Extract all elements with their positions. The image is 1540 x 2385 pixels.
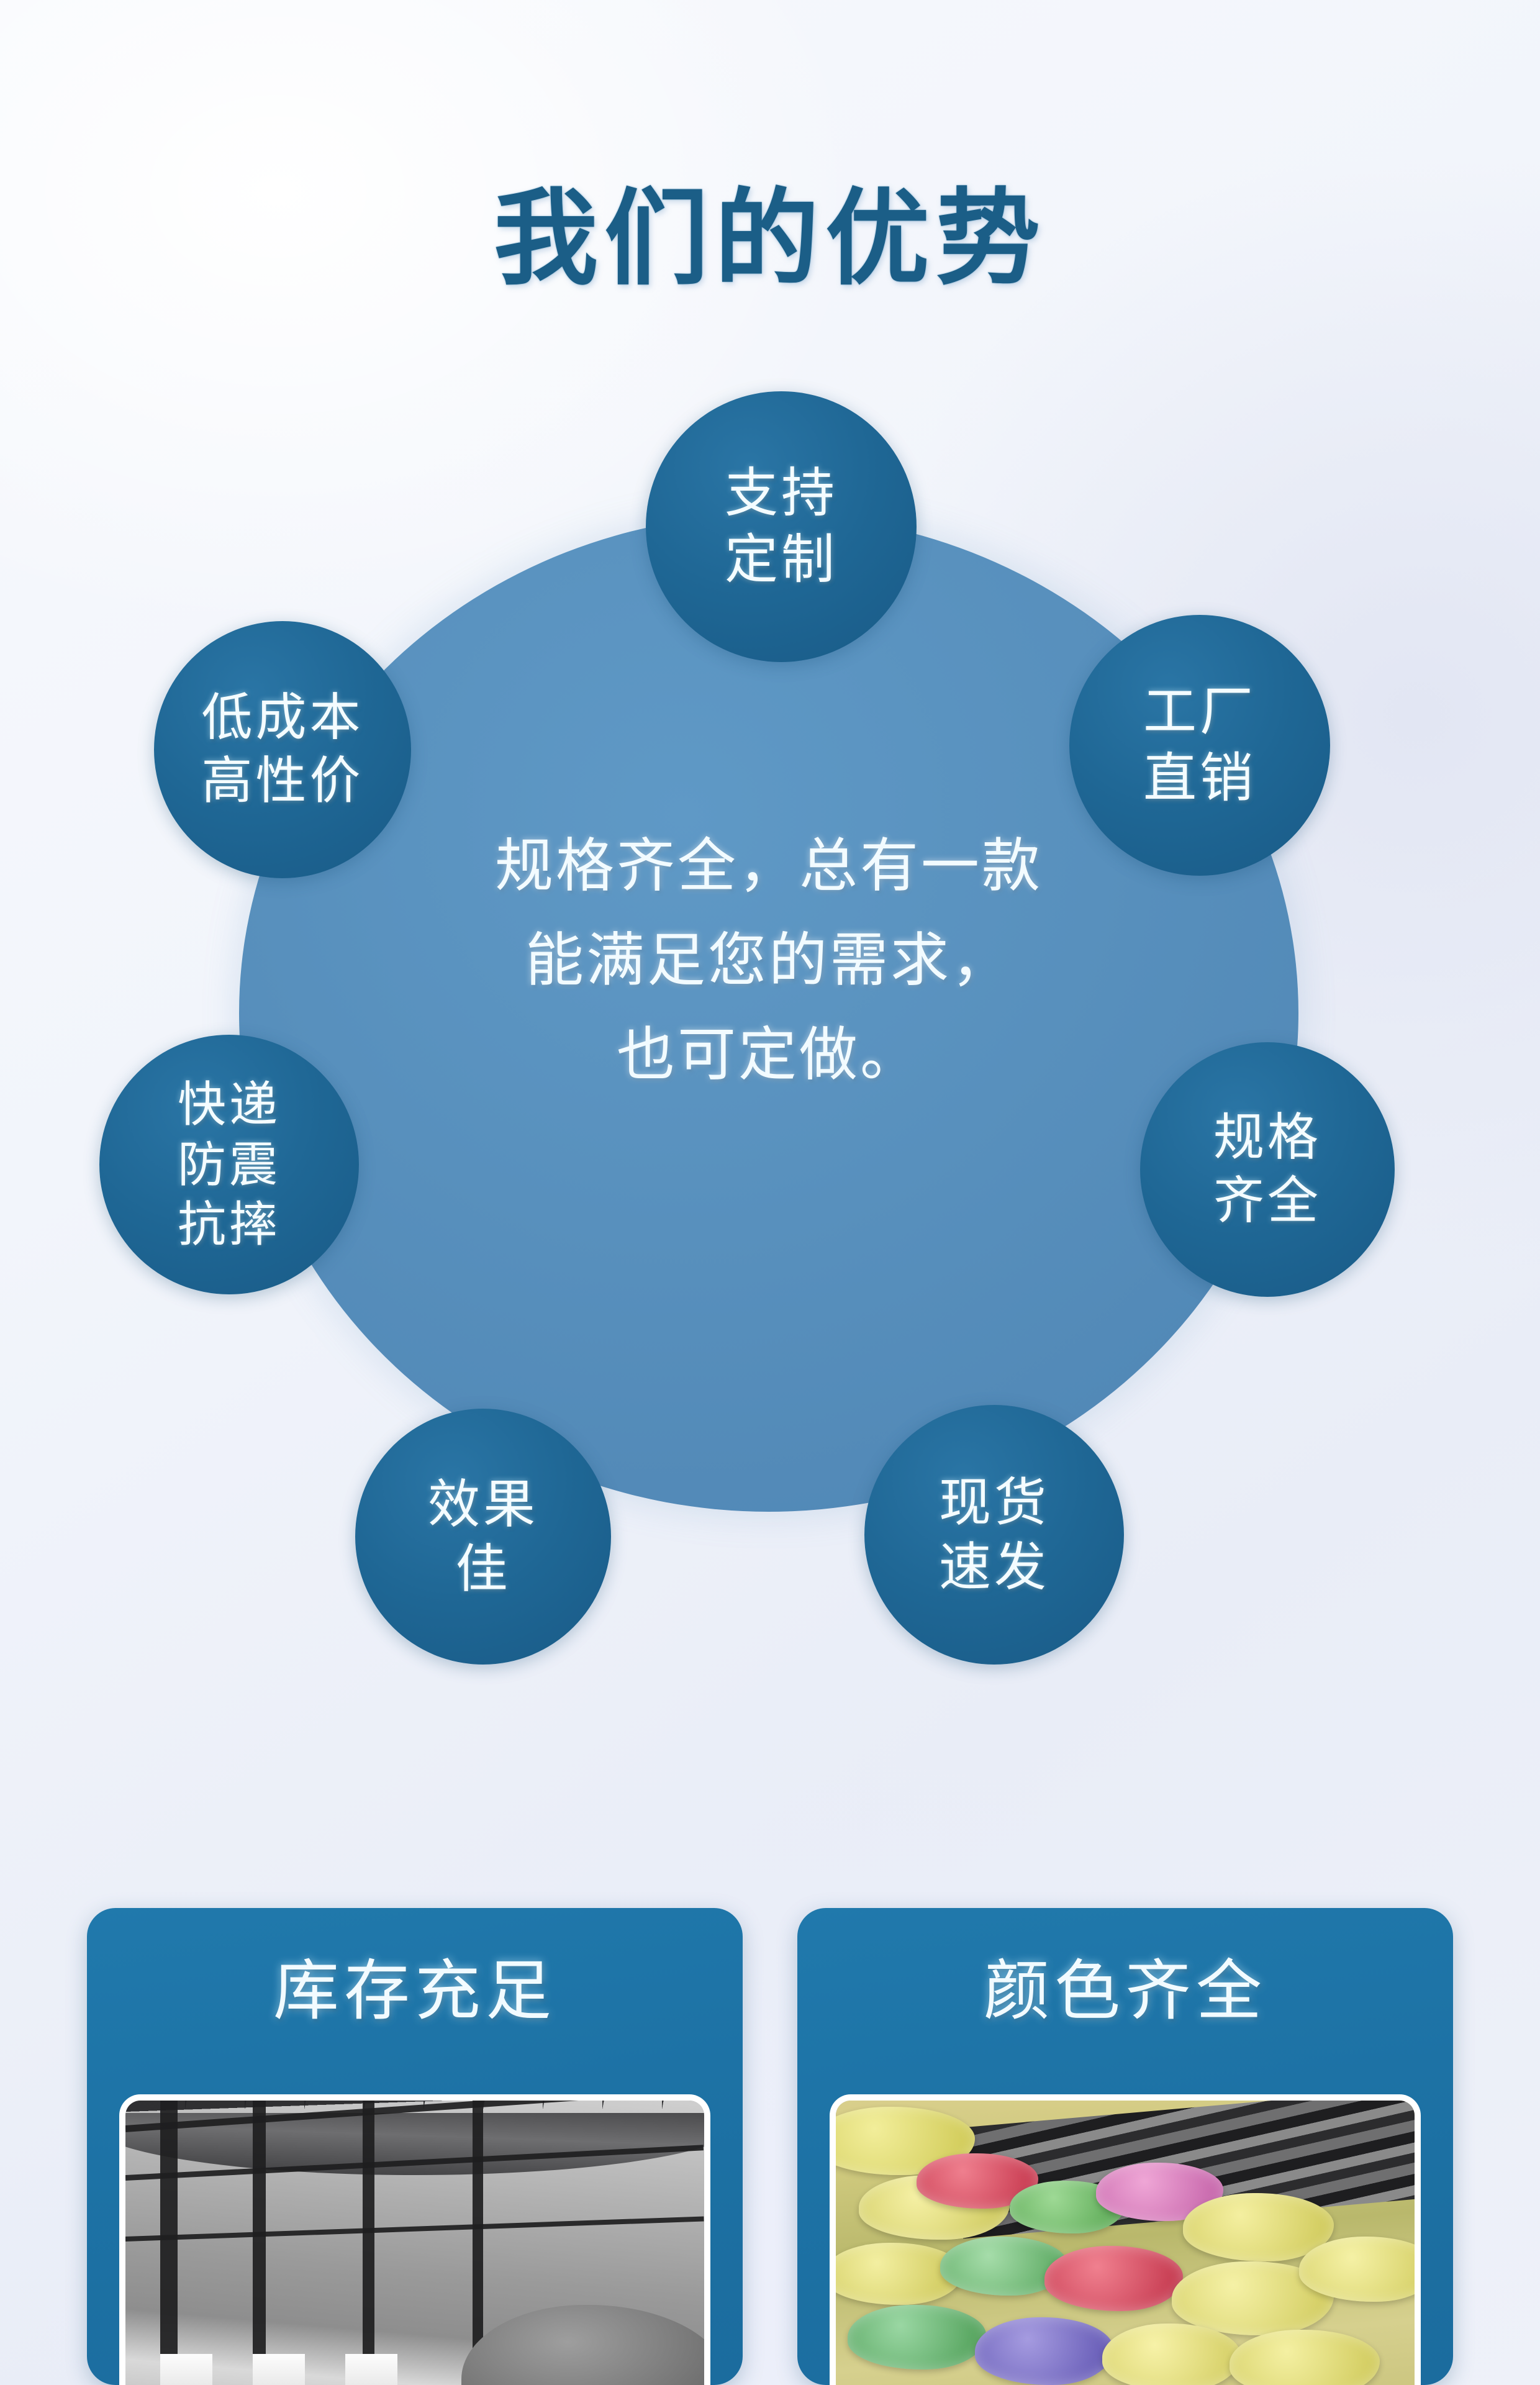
feature-cards: 库存充足 颜色齐全 xyxy=(87,1908,1453,2385)
card-stock-title: 库存充足 xyxy=(87,1955,743,2028)
advantages-page: 我们的优势 规格齐全，总有一款 能满足您的需求， 也可定做。 支持 定制 低成本… xyxy=(0,0,1540,2385)
bubble-support-custom[interactable]: 支持 定制 xyxy=(646,391,917,662)
bubble-left2-line-3: 抗摔 xyxy=(178,1194,281,1255)
bubble-left2-line-2: 防震 xyxy=(178,1135,281,1195)
hub-line-3: 也可定做。 xyxy=(335,1007,1203,1102)
hub-line-2: 能满足您的需求， xyxy=(335,913,1203,1007)
hub-line-1: 规格齐全，总有一款 xyxy=(335,819,1203,913)
card-colors-title: 颜色齐全 xyxy=(797,1955,1453,2028)
bubble-top-line-2: 定制 xyxy=(725,527,838,593)
bubble-left2-line-1: 快递 xyxy=(178,1074,281,1135)
bubble-left1-line-1: 低成本 xyxy=(201,686,363,750)
card-colors-photo-frame xyxy=(830,2094,1421,2385)
bubble-bot1-line-2: 佳 xyxy=(428,1537,538,1601)
bubble-top-line-1: 支持 xyxy=(725,460,838,527)
bubble-bot2-line-1: 现货 xyxy=(939,1470,1049,1535)
page-title: 我们的优势 xyxy=(0,177,1540,300)
card-stock[interactable]: 库存充足 xyxy=(87,1908,743,2385)
card-stock-photo-frame xyxy=(119,2094,710,2385)
hub-description: 规格齐全，总有一款 能满足您的需求， 也可定做。 xyxy=(335,819,1203,1102)
bubble-low-cost[interactable]: 低成本 高性价 xyxy=(154,621,411,878)
bubble-right1-line-2: 直销 xyxy=(1143,745,1256,812)
card-colors[interactable]: 颜色齐全 xyxy=(797,1908,1453,2385)
bubble-right2-line-2: 齐全 xyxy=(1213,1170,1321,1233)
bubble-right2-line-1: 规格 xyxy=(1213,1106,1321,1170)
bubble-full-specs[interactable]: 规格 齐全 xyxy=(1140,1042,1395,1297)
bubble-right1-line-1: 工厂 xyxy=(1143,679,1256,745)
bubble-shockproof-shipping[interactable]: 快递 防震 抗摔 xyxy=(99,1035,359,1294)
bubble-good-effect[interactable]: 效果 佳 xyxy=(355,1409,611,1665)
bubble-bot2-line-2: 速发 xyxy=(939,1535,1049,1599)
bubble-bot1-line-1: 效果 xyxy=(428,1472,538,1537)
warehouse-interior-photo xyxy=(125,2101,704,2385)
bubble-in-stock-fast-ship[interactable]: 现货 速发 xyxy=(864,1405,1124,1665)
colored-scrubber-balls-photo xyxy=(836,2101,1415,2385)
bubble-factory-direct[interactable]: 工厂 直销 xyxy=(1069,615,1330,876)
bubble-left1-line-2: 高性价 xyxy=(201,750,363,813)
